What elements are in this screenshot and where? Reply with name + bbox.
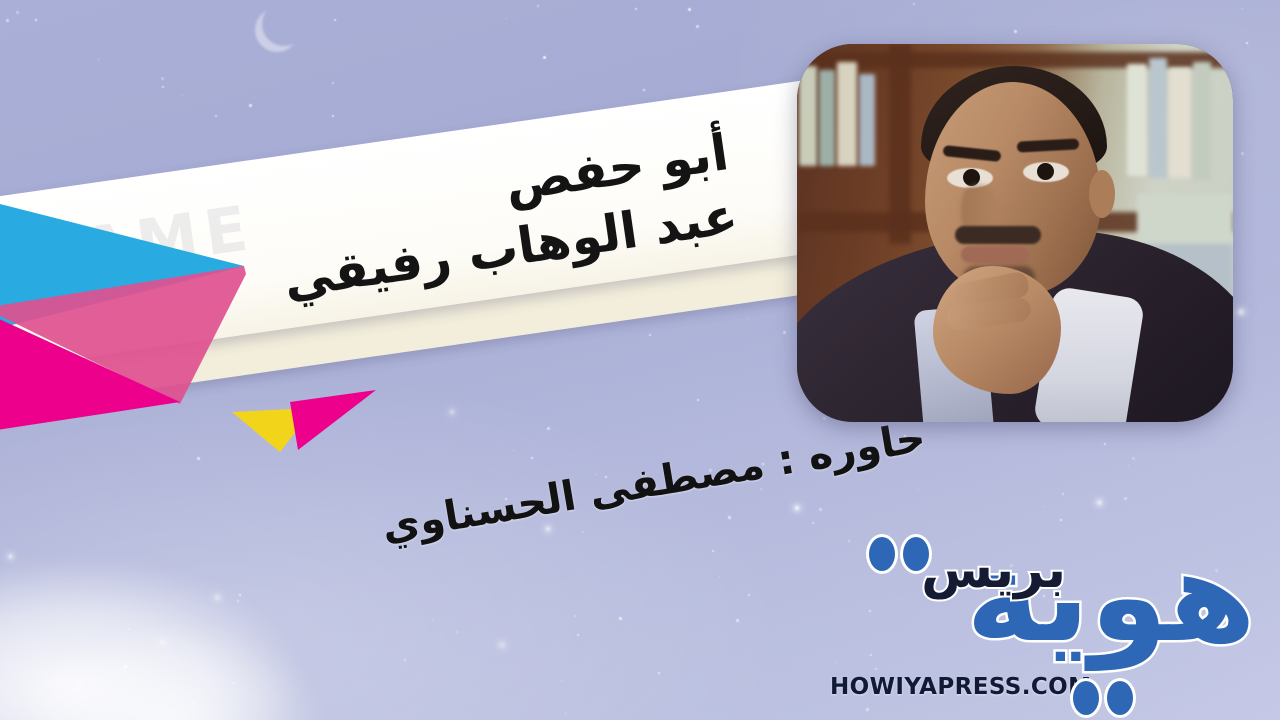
crescent-moon-icon	[262, 2, 306, 46]
star-dot	[635, 8, 637, 10]
star-dot	[1197, 474, 1198, 475]
star-dot	[783, 331, 786, 334]
portrait-photo	[797, 44, 1233, 422]
star-dot	[812, 522, 814, 524]
star-dot	[1097, 500, 1102, 505]
star-dot	[180, 440, 181, 441]
star-dot	[1241, 152, 1244, 155]
star-dot	[239, 594, 241, 596]
star-dot	[124, 665, 127, 668]
logo-dot	[900, 534, 932, 574]
cloud-shape-left	[0, 560, 300, 720]
star-dot	[332, 82, 334, 84]
logo-arabic-sub: بريس	[921, 540, 1066, 600]
book-spine	[819, 70, 835, 166]
star-dot	[1014, 30, 1017, 33]
star-dot	[432, 620, 433, 621]
site-logo[interactable]: هوية بريس HOWIYAPRESS.COM	[828, 532, 1256, 712]
star-dot	[506, 18, 507, 19]
star-dot	[1062, 493, 1064, 495]
star-dot	[499, 642, 505, 648]
star-dot	[1104, 443, 1106, 445]
star-dot	[16, 11, 19, 14]
star-dot	[1044, 506, 1045, 507]
book-spine	[837, 62, 857, 166]
star-dot	[334, 19, 336, 21]
star-dot	[215, 115, 217, 117]
logo-dot	[866, 534, 898, 574]
star-dot	[619, 617, 622, 620]
star-dot	[456, 631, 458, 633]
book-spine	[1127, 64, 1147, 176]
star-dot	[454, 680, 455, 681]
logo-dot	[1070, 678, 1102, 718]
star-dot	[128, 628, 130, 630]
subject-pupil-right	[1037, 163, 1054, 180]
star-dot	[565, 713, 566, 714]
star-dot	[819, 508, 822, 511]
star-dot	[6, 19, 9, 22]
star-dot	[1238, 309, 1244, 315]
book-spine	[1149, 58, 1167, 178]
star-dot	[1124, 497, 1127, 500]
book-spine	[859, 74, 875, 166]
star-dot	[237, 600, 239, 602]
star-dot	[913, 3, 915, 5]
star-dot	[98, 59, 99, 60]
star-dot	[688, 8, 691, 11]
star-dot	[918, 489, 919, 490]
star-dot	[1132, 457, 1135, 460]
star-dot	[658, 672, 660, 674]
star-dot	[233, 682, 235, 684]
star-dot	[795, 506, 799, 510]
star-dot	[574, 615, 576, 617]
star-dot	[215, 595, 220, 600]
star-dot	[1060, 519, 1062, 521]
star-dot	[1128, 465, 1129, 466]
book-spine	[1193, 62, 1211, 180]
star-dot	[531, 457, 533, 459]
star-dot	[736, 619, 739, 622]
cloud-shape-left-secondary	[20, 630, 320, 720]
star-dot	[728, 516, 731, 519]
star-dot	[193, 701, 195, 703]
star-dot	[577, 634, 579, 636]
star-dot	[697, 399, 699, 401]
star-dot	[404, 659, 406, 661]
star-dot	[643, 89, 645, 91]
star-dot	[719, 576, 720, 577]
star-dot	[712, 550, 714, 552]
star-dot	[161, 77, 164, 80]
star-dot	[442, 633, 443, 634]
subject-lips	[961, 246, 1029, 263]
star-dot	[450, 410, 454, 414]
interview-title-card: NAME أبو حفص عبد الوهاب رفيقي حاوره : مص…	[0, 0, 1280, 720]
star-dot	[9, 555, 12, 558]
star-dot	[1246, 42, 1248, 44]
subject-ear	[1089, 170, 1115, 218]
subject-mustache	[955, 226, 1041, 244]
star-dot	[748, 594, 750, 596]
star-dot	[35, 19, 37, 21]
star-dot	[543, 56, 546, 59]
star-dot	[182, 95, 183, 96]
book-spine	[1169, 68, 1191, 178]
star-dot	[537, 5, 539, 7]
star-dot	[197, 457, 200, 460]
star-dot	[513, 450, 514, 451]
logo-url-text: HOWIYAPRESS.COM	[830, 674, 1091, 700]
star-dot	[162, 86, 164, 88]
shelf-upright	[889, 44, 911, 244]
star-dot	[561, 680, 562, 681]
star-dot	[696, 25, 699, 28]
logo-dot	[1104, 678, 1136, 718]
book-spine	[799, 66, 817, 166]
triangle-cluster-bottom	[228, 386, 408, 458]
star-dot	[249, 104, 252, 107]
star-dot	[582, 531, 584, 533]
star-dot	[356, 93, 357, 94]
star-dot	[503, 430, 504, 431]
triangle-cluster-left	[0, 196, 262, 432]
star-dot	[547, 427, 550, 430]
star-dot	[161, 641, 164, 644]
star-dot	[332, 115, 334, 117]
star-dot	[1242, 8, 1243, 9]
